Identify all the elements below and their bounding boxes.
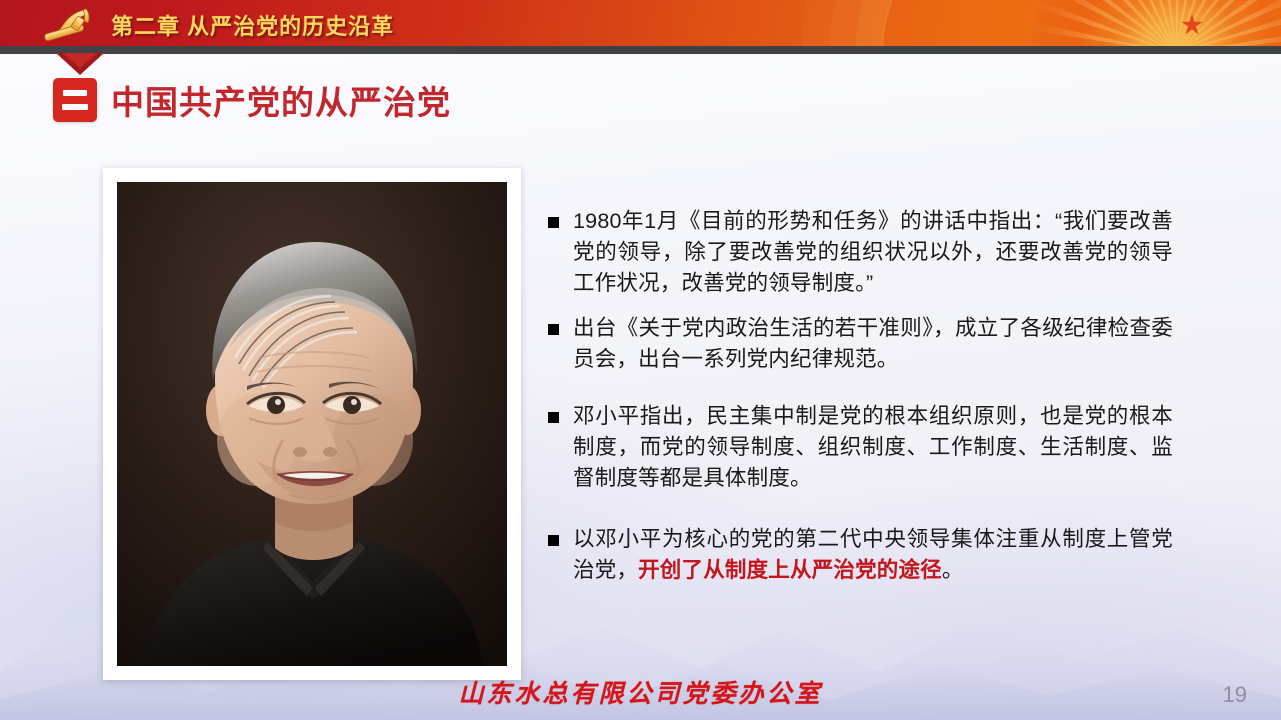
hammer-sickle-svg [38, 4, 100, 44]
square-bullet-icon [548, 324, 559, 335]
square-bullet-icon [548, 217, 559, 228]
header-underbar-divider [0, 46, 1281, 54]
bullet-text-3: 邓小平指出，民主集中制是党的根本组织原则，也是党的根本制度，而党的领导制度、组织… [573, 401, 1173, 494]
badge-bar-top [63, 90, 87, 96]
portrait-frame [103, 168, 521, 680]
header-arrow-highlight-icon [63, 53, 97, 68]
list-item: 出台《关于党内政治生活的若干准则》，成立了各级纪律检查委员会，出台一系列党内纪律… [548, 313, 1173, 375]
bullet-text-1: 1980年1月《目前的形势和任务》的讲话中指出：“我们要改善党的领导，除了要改善… [573, 206, 1173, 299]
organization-footer: 山东水总有限公司党委办公室 [0, 674, 1281, 710]
slide-canvas: 第二章 从严治党的历史沿革 中国共产党的从严治党 [0, 0, 1281, 720]
bullet-text-4-highlight: 开创了从制度上从严治党的途径 [638, 558, 942, 582]
chapter-header-bar: 第二章 从严治党的历史沿革 [0, 0, 1281, 46]
bullet-text-4: 以邓小平为核心的党的第二代中央领导集体注重从制度上管党治党，开创了从制度上从严治… [573, 524, 1173, 586]
bullet-content: 1980年1月《目前的形势和任务》的讲话中指出：“我们要改善党的领导，除了要改善… [548, 206, 1173, 600]
list-item: 邓小平指出，民主集中制是党的根本组织原则，也是党的根本制度，而党的领导制度、组织… [548, 401, 1173, 494]
square-bullet-icon [548, 412, 559, 423]
portrait-illustration [117, 182, 507, 666]
hammer-sickle-icon [38, 4, 100, 44]
header-ray-lines-decor [1031, 0, 1281, 46]
chapter-title: 第二章 从严治党的历史沿革 [111, 9, 394, 41]
section-heading: 中国共产党的从严治党 [53, 76, 451, 124]
list-item: 1980年1月《目前的形势和任务》的讲话中指出：“我们要改善党的领导，除了要改善… [548, 206, 1173, 299]
square-bullet-icon [548, 535, 559, 546]
bullet-text-4-plain-2: 。 [942, 558, 964, 582]
bullet-text-2: 出台《关于党内政治生活的若干准则》，成立了各级纪律检查委员会，出台一系列党内纪律… [573, 313, 1173, 375]
section-title: 中国共产党的从严治党 [111, 76, 451, 124]
section-number-badge [53, 78, 97, 122]
portrait-photo [117, 182, 507, 666]
page-number: 19 [1223, 682, 1247, 708]
list-item: 以邓小平为核心的党的第二代中央领导集体注重从制度上管党治党，开创了从制度上从严治… [548, 524, 1173, 586]
badge-bar-bottom [62, 104, 88, 110]
